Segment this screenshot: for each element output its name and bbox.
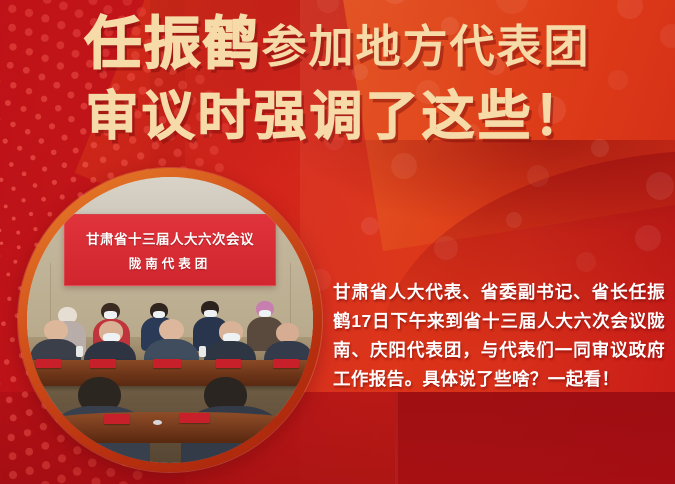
face-mask	[259, 310, 272, 317]
headline-block: 任振鹤参加地方代表团 审议时强调了这些！	[0, 8, 675, 150]
stage-banner: 甘肃省十三届人大六次会议 陇南代表团	[64, 214, 276, 286]
headline-line-1: 任振鹤参加地方代表团	[0, 8, 675, 80]
delegate-head	[276, 323, 299, 343]
headline-line-2: 审议时强调了这些！	[0, 84, 675, 150]
nameplate	[104, 414, 130, 424]
stage-banner-line-2: 陇南代表团	[129, 253, 212, 272]
water-cup	[199, 346, 206, 357]
conference-photo: 甘肃省十三届人大六次会议 陇南代表团	[27, 177, 313, 463]
front-table	[27, 412, 313, 443]
microphone	[153, 420, 162, 425]
poster-canvas: 任振鹤参加地方代表团 审议时强调了这些！ 甘肃省十三届人大六次会议 陇南代表团	[0, 0, 675, 484]
face-mask	[204, 310, 217, 317]
body-text-block: 甘肃省人大代表、省委副书记、省长任振鹤17日下午来到省十三届人大六次会议陇南、庆…	[333, 278, 665, 394]
background-band-seam	[395, 392, 398, 484]
stage-banner-line-1: 甘肃省十三届人大六次会议	[86, 228, 254, 248]
headline-name-emphasis: 任振鹤	[84, 8, 261, 80]
nameplate	[90, 359, 116, 368]
headline-line-1-rest: 参加地方代表团	[261, 11, 590, 83]
nameplate	[36, 359, 62, 368]
nameplate	[273, 359, 299, 368]
background-band-bottom-right	[395, 392, 675, 484]
face-mask	[153, 311, 166, 318]
face-mask	[104, 311, 117, 318]
body-paragraph: 甘肃省人大代表、省委副书记、省长任振鹤17日下午来到省十三届人大六次会议陇南、庆…	[333, 278, 665, 394]
photo-scene: 甘肃省十三届人大六次会议 陇南代表团	[27, 177, 313, 463]
water-cup	[76, 346, 83, 357]
nameplate	[216, 359, 242, 368]
nameplate	[179, 413, 210, 423]
photo-ring-border: 甘肃省十三届人大六次会议 陇南代表团	[18, 168, 322, 472]
nameplate	[153, 359, 182, 369]
